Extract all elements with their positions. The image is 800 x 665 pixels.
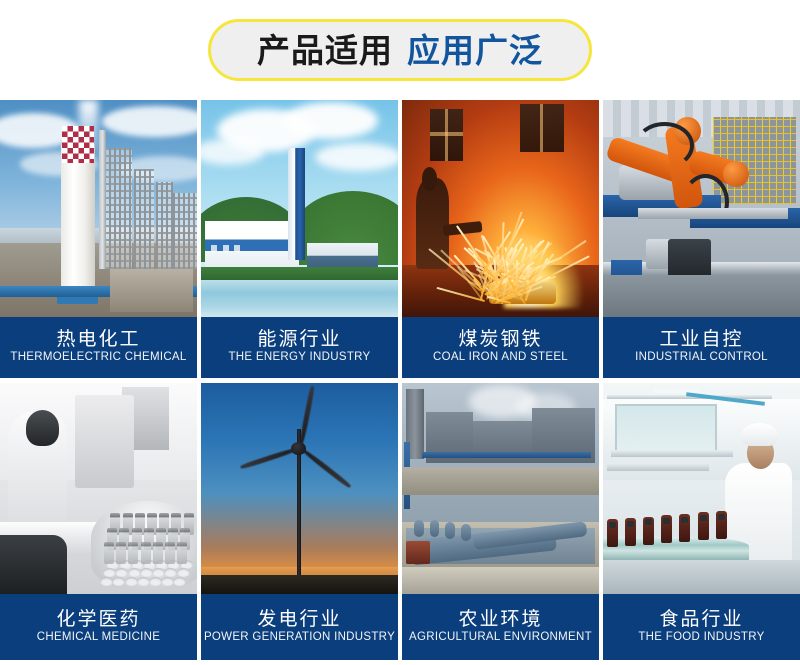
card-industrial-control[interactable]: 工业自控 INDUSTRIAL CONTROL bbox=[603, 100, 800, 378]
caption-agricultural-environment: 农业环境 AGRICULTURAL ENVIRONMENT bbox=[402, 594, 599, 660]
page-title-main: 产品适用 bbox=[257, 34, 393, 67]
card-chemical-medicine[interactable]: 化学医药 CHEMICAL MEDICINE bbox=[0, 383, 197, 661]
caption-thermoelectric-chemical: 热电化工 THERMOELECTRIC CHEMICAL bbox=[0, 317, 197, 378]
caption-cn: 煤炭钢铁 bbox=[458, 330, 542, 349]
caption-en: COAL IRON AND STEEL bbox=[433, 352, 568, 364]
application-card-grid: 热电化工 THERMOELECTRIC CHEMICAL bbox=[0, 100, 800, 660]
caption-en: POWER GENERATION INDUSTRY bbox=[204, 632, 395, 644]
card-thermoelectric-chemical[interactable]: 热电化工 THERMOELECTRIC CHEMICAL bbox=[0, 100, 197, 378]
agricultural-environment-image bbox=[402, 383, 599, 595]
food-industry-image bbox=[603, 383, 800, 595]
chemical-medicine-image bbox=[0, 383, 197, 595]
caption-cn: 热电化工 bbox=[56, 330, 140, 349]
card-energy-industry[interactable]: 能源行业 THE ENERGY INDUSTRY bbox=[201, 100, 398, 378]
page-root: 产品适用 应用广泛 bbox=[0, 0, 800, 665]
caption-en: THERMOELECTRIC CHEMICAL bbox=[10, 352, 186, 364]
page-title-accent: 应用广泛 bbox=[407, 34, 543, 67]
page-header: 产品适用 应用广泛 bbox=[0, 0, 800, 100]
caption-energy-industry: 能源行业 THE ENERGY INDUSTRY bbox=[201, 317, 398, 378]
caption-en: CHEMICAL MEDICINE bbox=[37, 632, 161, 644]
caption-power-generation: 发电行业 POWER GENERATION INDUSTRY bbox=[201, 594, 398, 660]
card-power-generation[interactable]: 发电行业 POWER GENERATION INDUSTRY bbox=[201, 383, 398, 661]
caption-coal-iron-steel: 煤炭钢铁 COAL IRON AND STEEL bbox=[402, 317, 599, 378]
energy-industry-image bbox=[201, 100, 398, 317]
caption-en: THE ENERGY INDUSTRY bbox=[228, 352, 370, 364]
caption-cn: 食品行业 bbox=[659, 610, 743, 629]
title-pill: 产品适用 应用广泛 bbox=[208, 19, 592, 81]
caption-food-industry: 食品行业 THE FOOD INDUSTRY bbox=[603, 594, 800, 660]
caption-cn: 发电行业 bbox=[257, 610, 341, 629]
caption-cn: 能源行业 bbox=[257, 330, 341, 349]
caption-en: INDUSTRIAL CONTROL bbox=[635, 352, 768, 364]
caption-en: AGRICULTURAL ENVIRONMENT bbox=[409, 632, 592, 644]
power-generation-image bbox=[201, 383, 398, 595]
caption-cn: 农业环境 bbox=[458, 610, 542, 629]
card-food-industry[interactable]: 食品行业 THE FOOD INDUSTRY bbox=[603, 383, 800, 661]
caption-en: THE FOOD INDUSTRY bbox=[638, 632, 764, 644]
thermoelectric-chemical-image bbox=[0, 100, 197, 317]
card-agricultural-environment[interactable]: 农业环境 AGRICULTURAL ENVIRONMENT bbox=[402, 383, 599, 661]
caption-cn: 化学医药 bbox=[56, 610, 140, 629]
caption-chemical-medicine: 化学医药 CHEMICAL MEDICINE bbox=[0, 594, 197, 660]
industrial-control-image bbox=[603, 100, 800, 317]
coal-iron-steel-image bbox=[402, 100, 599, 317]
caption-cn: 工业自控 bbox=[659, 330, 743, 349]
caption-industrial-control: 工业自控 INDUSTRIAL CONTROL bbox=[603, 317, 800, 378]
card-coal-iron-steel[interactable]: 煤炭钢铁 COAL IRON AND STEEL bbox=[402, 100, 599, 378]
